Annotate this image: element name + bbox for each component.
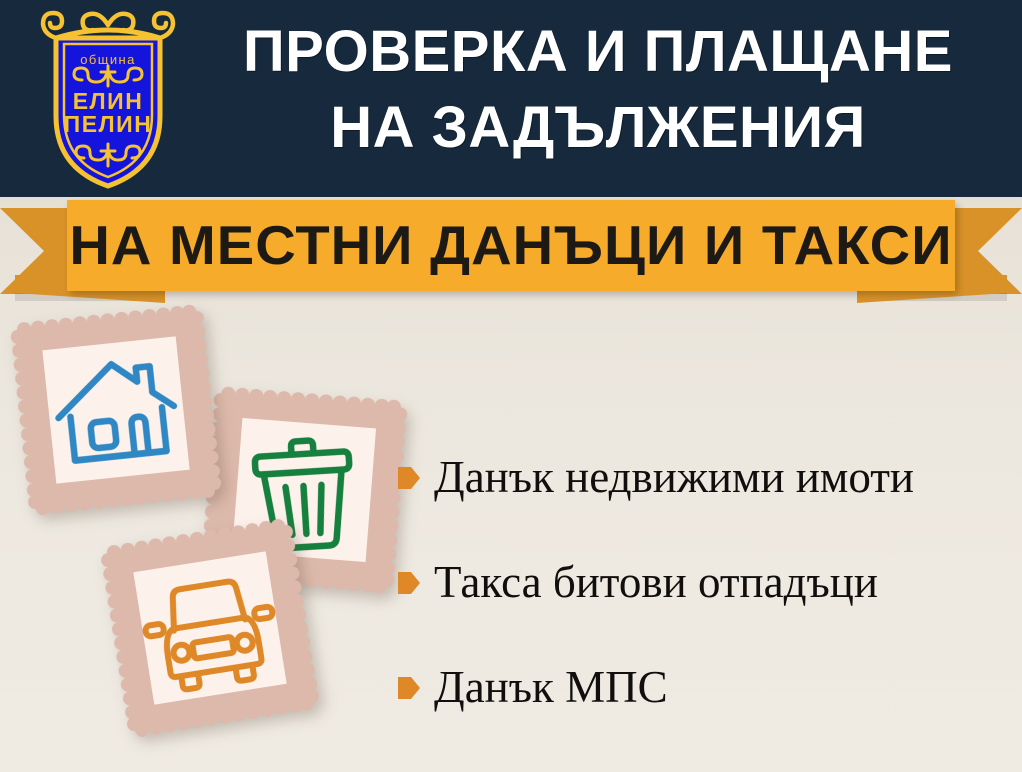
ribbon-label: НА МЕСТНИ ДАНЪЦИ И ТАКСИ [69, 218, 952, 273]
poster-canvas: община ЕЛИН ПЕЛИН ПРОВЕРКА И ПЛ [0, 0, 1022, 772]
ribbon-banner: НА МЕСТНИ ДАНЪЦИ И ТАКСИ [67, 200, 955, 291]
arrow-right-bullet-icon [398, 570, 420, 596]
page-title: ПРОВЕРКА И ПЛАЩАНЕ НА ЗАДЪЛЖЕНИЯ [188, 14, 1008, 166]
subtitle-ribbon: НА МЕСТНИ ДАНЪЦИ И ТАКСИ [0, 196, 1022, 308]
list-item-label: Данък недвижими имоти [434, 453, 914, 501]
tax-type-list: Данък недвижими имоти Такса битови отпад… [398, 424, 1010, 739]
list-item[interactable]: Такса битови отпадъци [398, 529, 1010, 634]
crest-line-pelin: ПЕЛИН [64, 111, 153, 137]
list-item-label: Такса битови отпадъци [434, 558, 878, 606]
list-item[interactable]: Данък МПС [398, 634, 1010, 739]
list-item[interactable]: Данък недвижими имоти [398, 424, 1010, 529]
page-title-line2: НА ЗАДЪЛЖЕНИЯ [188, 90, 1008, 166]
arrow-right-bullet-icon [398, 675, 420, 701]
page-title-line1: ПРОВЕРКА И ПЛАЩАНЕ [188, 14, 1008, 90]
header-bar: община ЕЛИН ПЕЛИН ПРОВЕРКА И ПЛ [0, 0, 1022, 197]
stamp-card-car [98, 516, 322, 740]
coat-of-arms-icon: община ЕЛИН ПЕЛИН [38, 8, 178, 190]
list-item-label: Данък МПС [434, 663, 668, 711]
arrow-right-bullet-icon [398, 465, 420, 491]
stamp-paper [133, 551, 286, 704]
stamp-card-house [8, 302, 223, 517]
